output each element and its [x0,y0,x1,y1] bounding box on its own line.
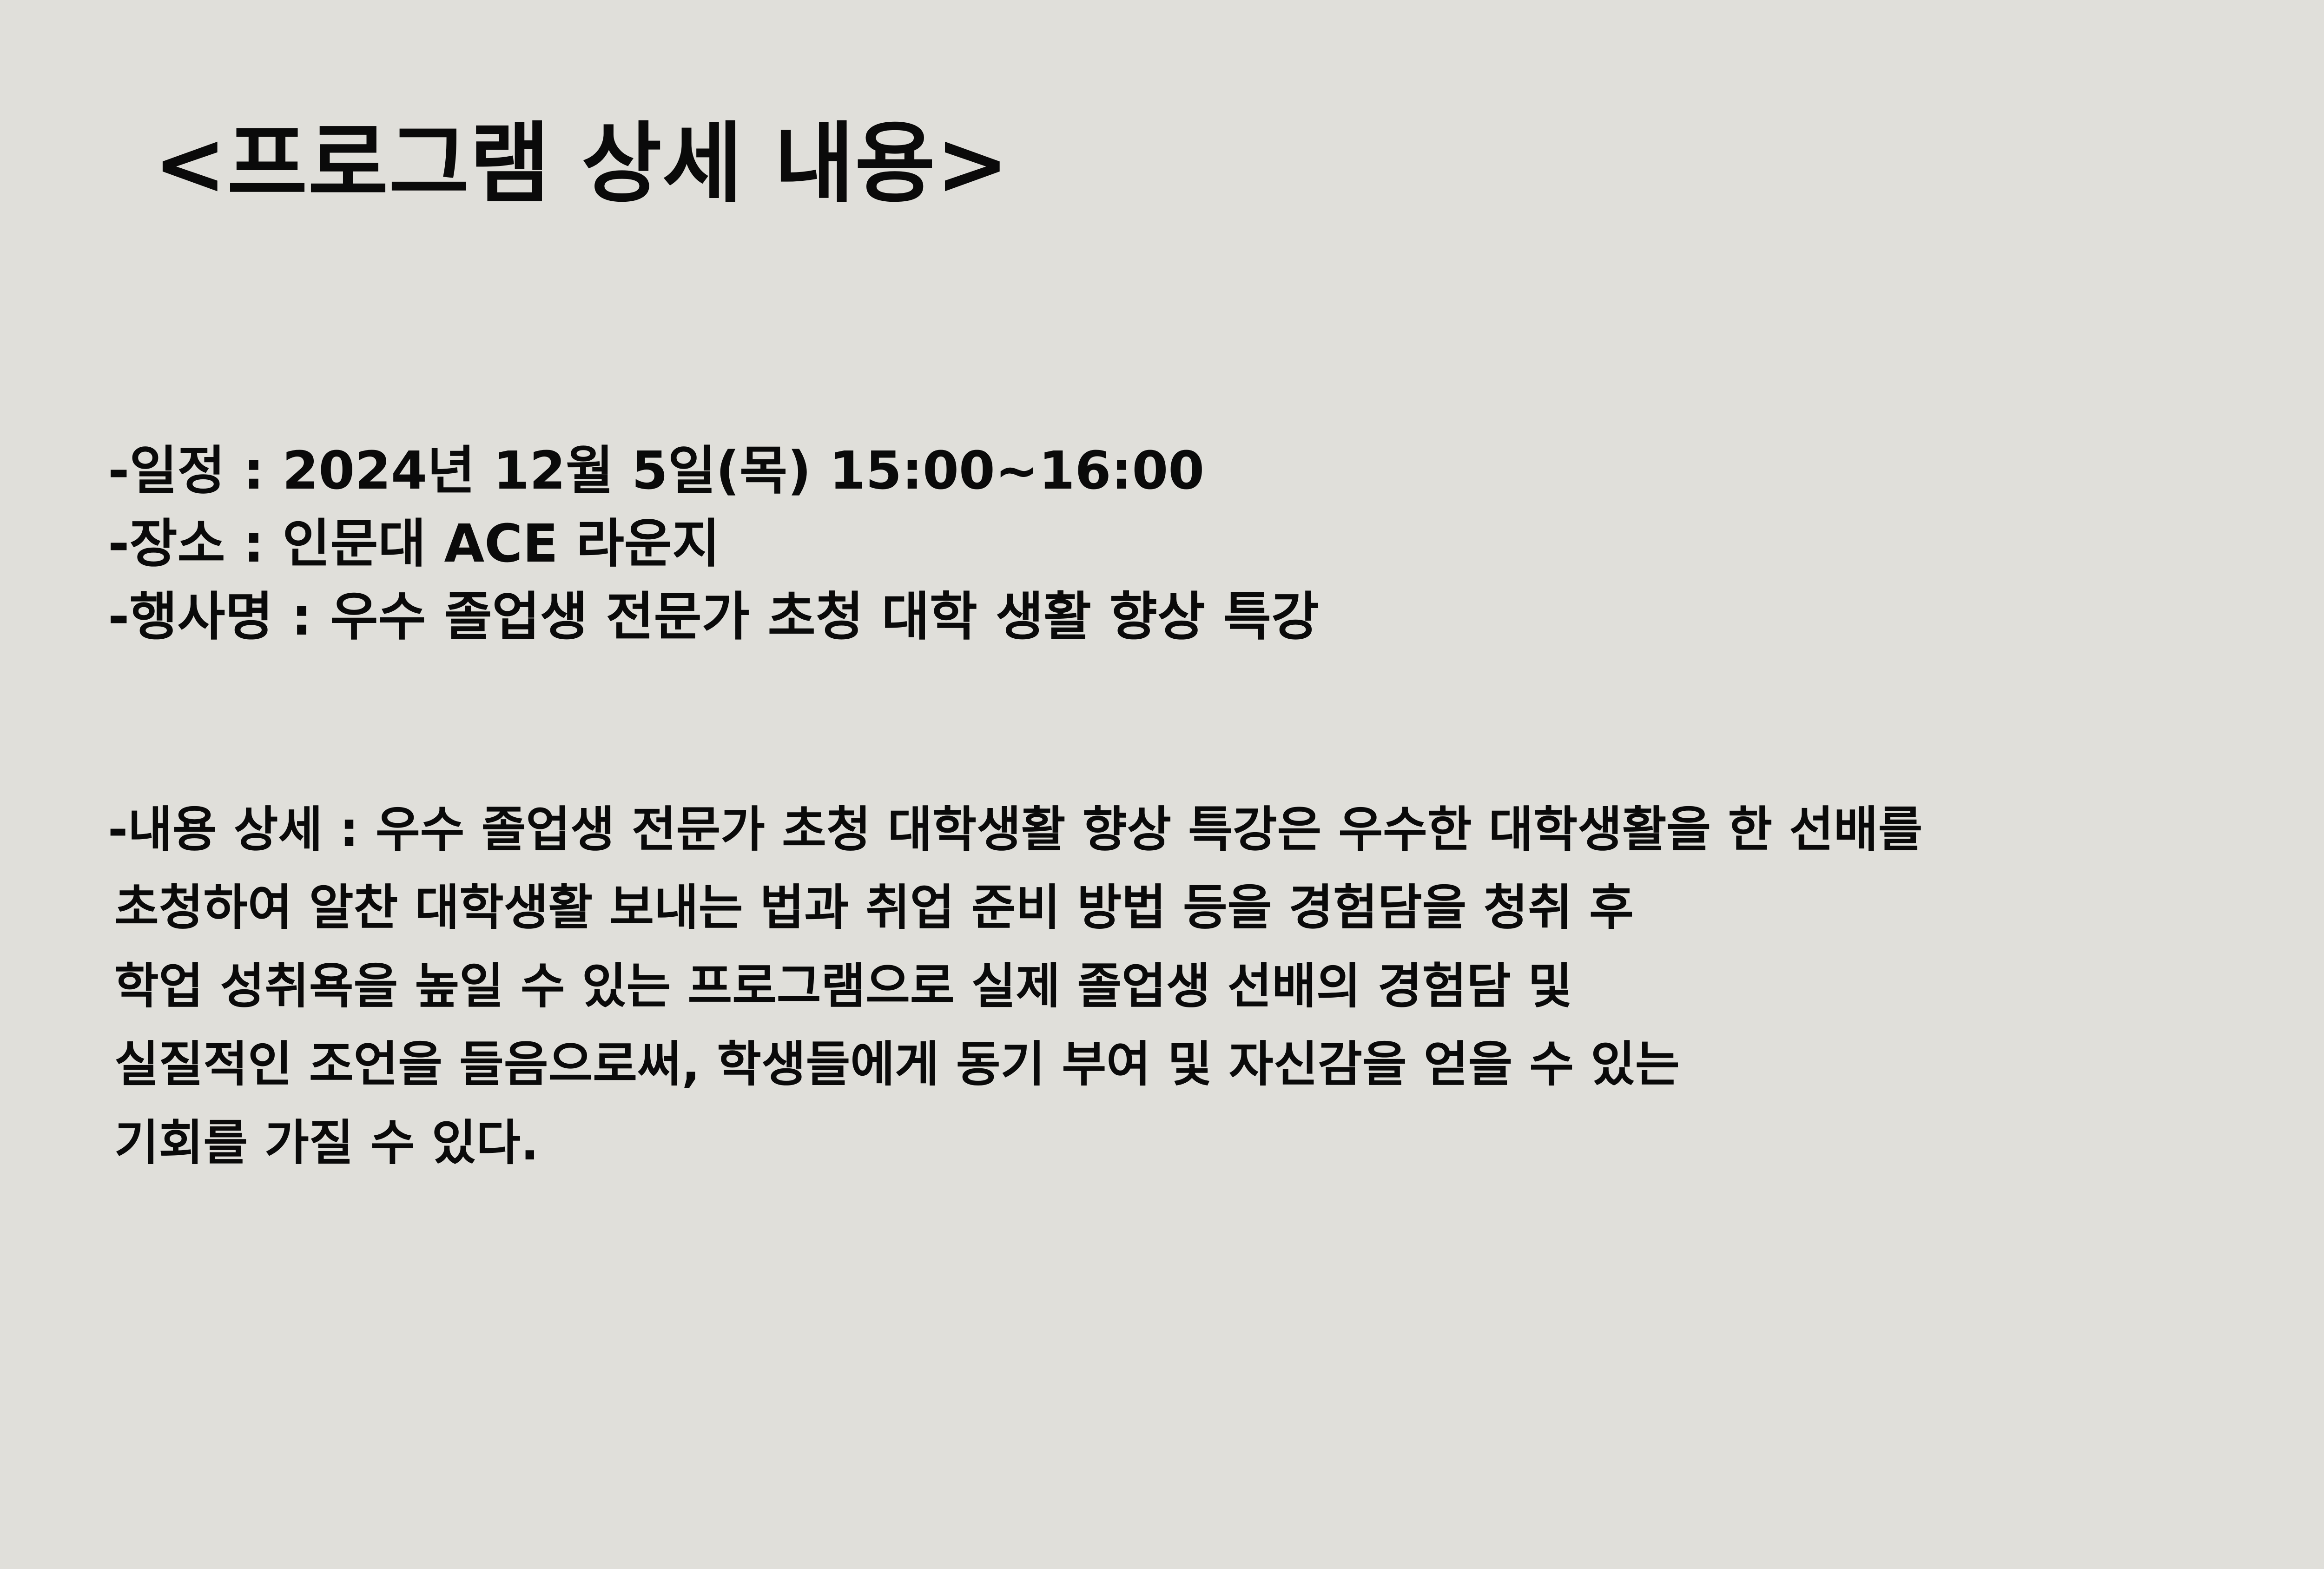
info-line-place: -장소 : 인문대 ACE 라운지 [108,508,2324,581]
detail-line-2: 초청하여 알찬 대학생활 보내는 법과 취업 준비 방법 등을 경험담을 청취 … [108,868,2324,947]
program-detail-block: -내용 상세 : 우수 졸업생 전문가 초청 대학생활 향상 특강은 우수한 대… [108,790,2324,1182]
event-info-block: -일정 : 2024년 12월 5일(목) 15:00~16:00 -장소 : … [108,435,2324,653]
detail-line-3: 학업 성취욕을 높일 수 있는 프로그램으로 실제 졸업생 선배의 경험담 및 [108,947,2324,1025]
page-title: <프로그램 상세 내용> [153,114,1010,214]
detail-line-1: -내용 상세 : 우수 졸업생 전문가 초청 대학생활 향상 특강은 우수한 대… [108,790,2324,868]
info-line-schedule: -일정 : 2024년 12월 5일(목) 15:00~16:00 [108,435,2324,508]
slide-canvas: <프로그램 상세 내용> -일정 : 2024년 12월 5일(목) 15:00… [0,0,2324,1569]
detail-line-5: 기회를 가질 수 있다. [108,1104,2324,1182]
info-line-event-name: -행사명 : 우수 졸업생 전문가 초청 대학 생활 향상 특강 [108,581,2324,654]
detail-line-4: 실질적인 조언을 들음으로써, 학생들에게 동기 부여 및 자신감을 얻을 수 … [108,1025,2324,1103]
